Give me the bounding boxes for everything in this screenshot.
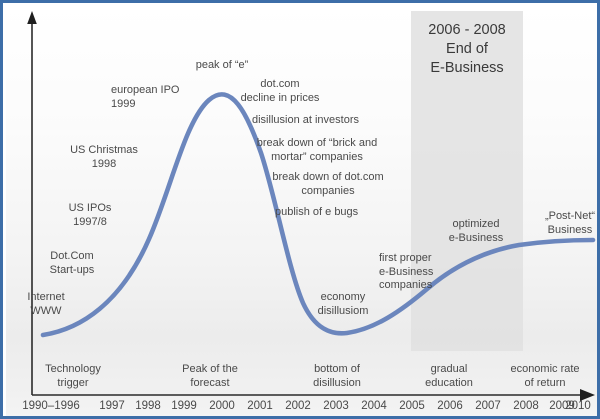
year-label-14: 2010: [557, 400, 599, 412]
year-label-6: 2002: [277, 400, 319, 412]
annotation-first-proper-ebusiness: first proper e-Business companies: [379, 252, 451, 293]
phase-gradual-education: gradual education: [409, 363, 489, 390]
annotation-internet-www: Internet WWW: [11, 291, 81, 318]
phase-technology-trigger: Technology trigger: [31, 363, 115, 390]
annotation-economy-disillusiom: economy disillusiom: [303, 291, 383, 318]
annotation-us-ipos: US IPOs 1997/8: [51, 202, 129, 229]
annotation-peak-of-e: peak of “e”: [177, 59, 267, 73]
annotation-brick-and-mortar: break down of “brick and mortar” compani…: [255, 137, 379, 164]
year-label-11: 2007: [467, 400, 509, 412]
y-axis-arrow: [27, 11, 37, 24]
year-label-9: 2005: [391, 400, 433, 412]
hype-cycle-figure: 2006 - 2008 End of E-Business Internet W…: [0, 0, 600, 419]
phase-economic-rate: economic rate of return: [495, 363, 595, 390]
annotation-dotcom-startups: Dot.Com Start-ups: [33, 250, 111, 277]
phase-bottom-of-disillusion: bottom of disillusion: [295, 363, 379, 390]
year-label-0: 1990–1996: [11, 400, 91, 412]
annotation-us-christmas: US Christmas 1998: [55, 144, 153, 171]
year-label-5: 2001: [239, 400, 281, 412]
annotation-post-net-business: „Post-Net“ Business: [539, 210, 600, 237]
annotation-dotcom-breakdown: break down of dot.com companies: [265, 171, 391, 198]
annotation-publish-e-bugs: publish of e bugs: [275, 206, 379, 220]
annotation-dotcom-decline: dot.com decline in prices: [231, 78, 329, 105]
annotation-european-ipo: european IPO 1999: [111, 84, 195, 111]
year-label-10: 2006: [429, 400, 471, 412]
year-label-7: 2003: [315, 400, 357, 412]
annotation-disillusion-investors: disillusion at investors: [252, 114, 372, 128]
year-label-8: 2004: [353, 400, 395, 412]
year-label-4: 2000: [201, 400, 243, 412]
year-label-3: 1999: [163, 400, 205, 412]
phase-peak-of-forecast: Peak of the forecast: [163, 363, 257, 390]
annotation-optimized-ebusiness: optimized e-Business: [439, 218, 513, 245]
